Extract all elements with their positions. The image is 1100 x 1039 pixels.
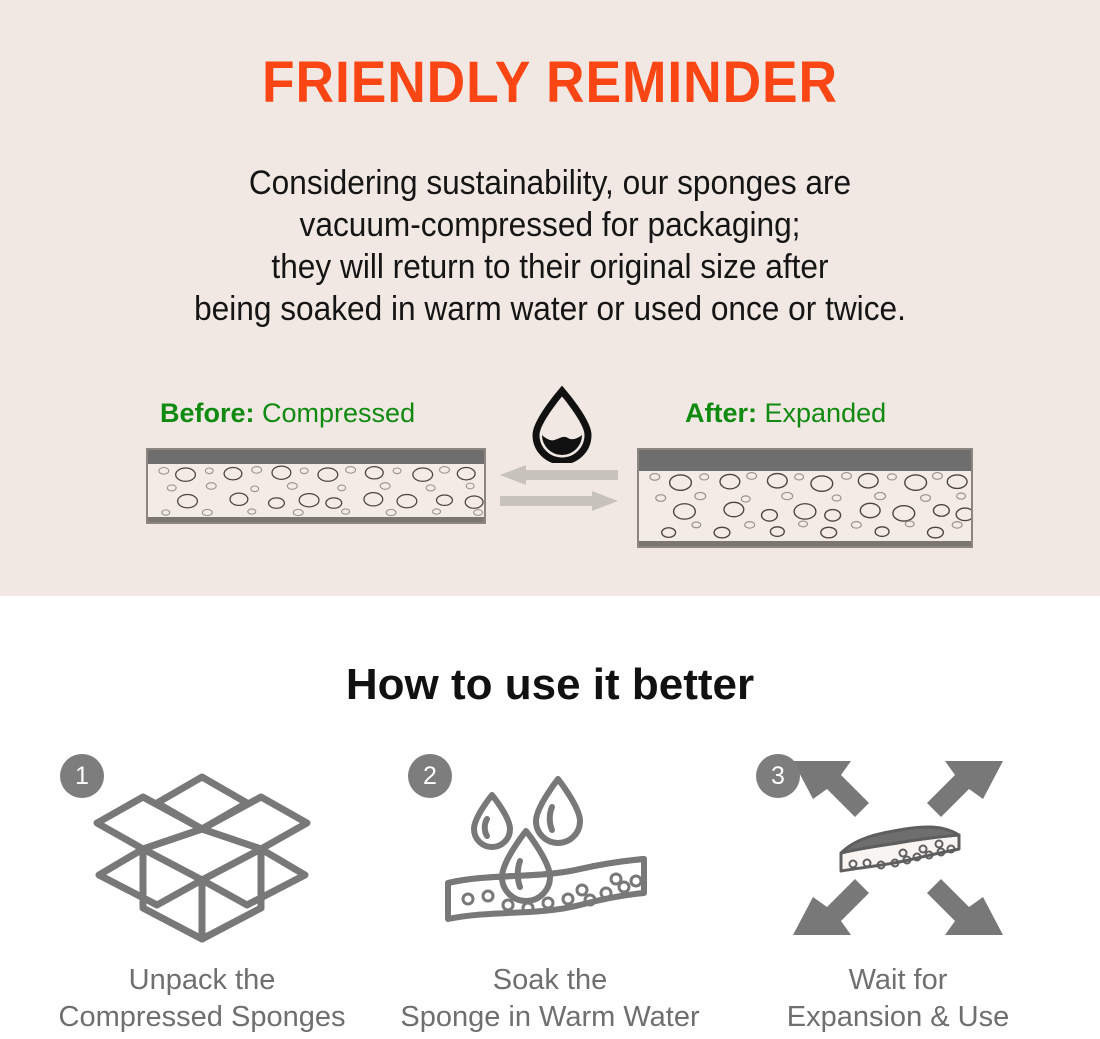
infographic-page: FRIENDLY REMINDER Considering sustainabi… bbox=[0, 0, 1100, 1039]
water-drop-icon bbox=[523, 385, 601, 463]
reminder-body-line-3: they will return to their original size … bbox=[39, 246, 1062, 288]
list-item: 3 bbox=[724, 748, 1072, 1036]
before-label: Before: Compressed bbox=[160, 398, 415, 428]
how-to-use-panel: How to use it better 1 bbox=[0, 596, 1100, 1039]
sponge-pores bbox=[639, 450, 971, 546]
step-caption-line-1: Wait for bbox=[787, 962, 1009, 999]
step-2-artwork: 2 bbox=[400, 748, 700, 948]
transition-indicator-group bbox=[500, 385, 625, 525]
section-title: How to use it better bbox=[0, 660, 1100, 710]
page-title: FRIENDLY REMINDER bbox=[44, 52, 1056, 114]
step-caption-line-1: Unpack the bbox=[59, 962, 346, 999]
after-label-rest: Expanded bbox=[765, 398, 887, 428]
step-1-artwork: 1 bbox=[52, 748, 352, 948]
sponge-bottom-edge bbox=[639, 541, 971, 546]
sponge-bottom-edge bbox=[148, 517, 484, 522]
expanded-sponge-illustration bbox=[637, 448, 973, 548]
water-drops-on-sponge-icon bbox=[430, 753, 670, 943]
arrow-left-icon bbox=[500, 465, 618, 485]
step-caption: Unpack the Compressed Sponges bbox=[59, 962, 346, 1036]
step-caption-line-1: Soak the bbox=[400, 962, 699, 999]
step-3-artwork: 3 bbox=[748, 748, 1048, 948]
expanding-arrows-sponge-icon bbox=[783, 753, 1013, 943]
before-label-rest: Compressed bbox=[262, 398, 415, 428]
reminder-body-line-2: vacuum-compressed for packaging; bbox=[39, 204, 1062, 246]
sponge-pores bbox=[148, 450, 484, 522]
open-box-icon bbox=[87, 753, 317, 943]
steps-list: 1 bbox=[0, 748, 1100, 1036]
step-caption-line-2: Sponge in Warm Water bbox=[400, 999, 699, 1036]
list-item: 1 bbox=[28, 748, 376, 1036]
friendly-reminder-panel: FRIENDLY REMINDER Considering sustainabi… bbox=[0, 0, 1100, 596]
step-caption: Soak the Sponge in Warm Water bbox=[400, 962, 699, 1036]
step-caption-line-2: Compressed Sponges bbox=[59, 999, 346, 1036]
compressed-sponge-illustration bbox=[146, 448, 486, 524]
reminder-body-line-1: Considering sustainability, our sponges … bbox=[39, 162, 1062, 204]
list-item: 2 bbox=[376, 748, 724, 1036]
before-label-strong: Before: bbox=[160, 398, 255, 428]
step-caption-line-2: Expansion & Use bbox=[787, 999, 1009, 1036]
reminder-body-line-4: being soaked in warm water or used once … bbox=[39, 288, 1062, 330]
reminder-body-text: Considering sustainability, our sponges … bbox=[39, 162, 1062, 330]
after-label: After: Expanded bbox=[685, 398, 886, 428]
step-number-badge: 1 bbox=[60, 754, 104, 798]
step-number-badge: 3 bbox=[756, 754, 800, 798]
after-label-strong: After: bbox=[685, 398, 757, 428]
step-number-badge: 2 bbox=[408, 754, 452, 798]
arrow-right-icon bbox=[500, 491, 618, 511]
step-caption: Wait for Expansion & Use bbox=[787, 962, 1009, 1036]
